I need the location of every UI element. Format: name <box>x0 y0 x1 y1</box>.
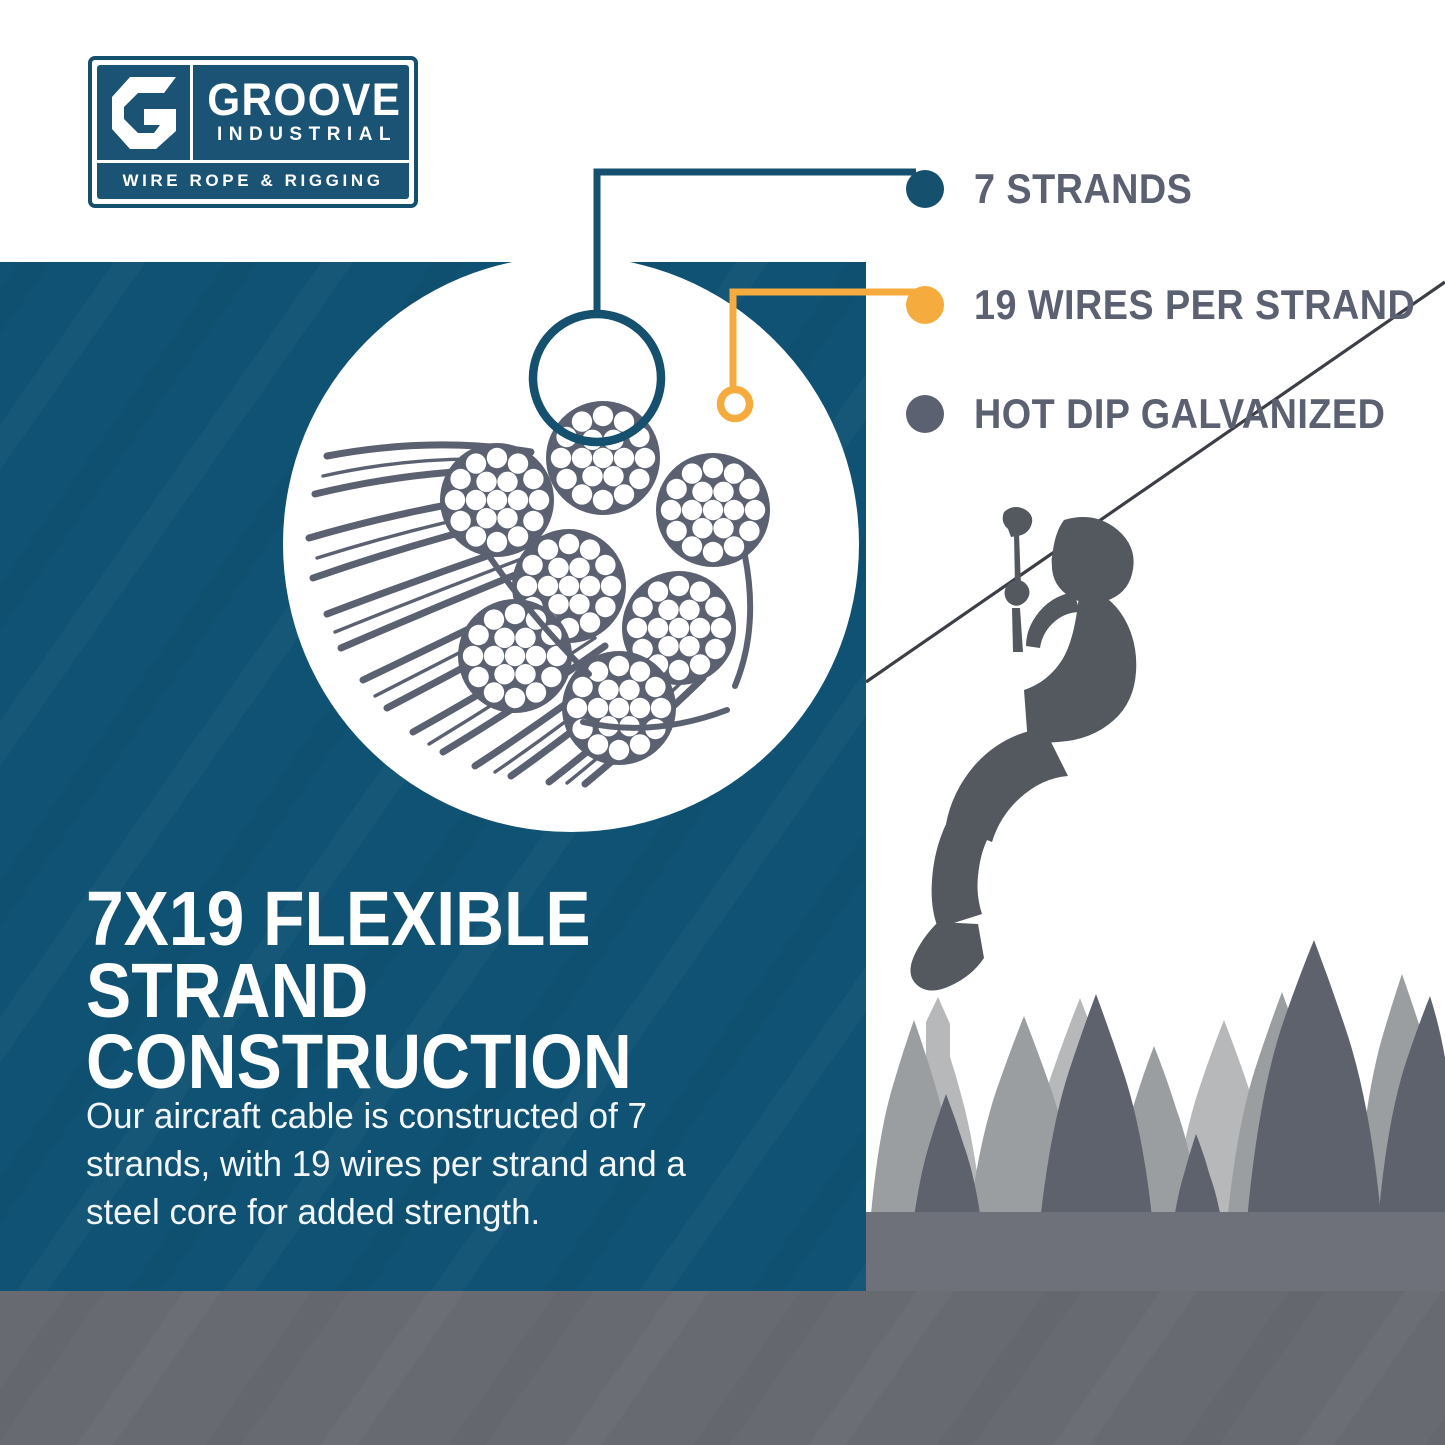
wire-ring-marker-icon <box>713 382 757 426</box>
cable-cross-section-circle <box>283 256 859 832</box>
callout-wires-per-strand[interactable]: 19 WIRES PER STRAND <box>906 281 1445 329</box>
callout-galvanized[interactable]: HOT DIP GALVANIZED <box>906 390 1431 438</box>
logo-inner-plate: GROOVE INDUSTRIAL WIRE ROPE & RIGGING <box>97 65 409 199</box>
logo-brand-name: GROOVE <box>207 79 401 120</box>
headline-line-1: 7X19 FLEXIBLE <box>86 884 755 956</box>
footer-diagonal-texture <box>0 1291 1445 1445</box>
logo-brand-subname: INDUSTRIAL <box>211 124 397 146</box>
ground-haze <box>866 1212 1445 1291</box>
groove-g-hexagon-icon <box>97 65 193 160</box>
headline-line-2: STRAND CONSTRUCTION <box>86 956 755 1099</box>
callout-label-strands: 7 STRANDS <box>974 165 1192 213</box>
logo-top-row: GROOVE INDUSTRIAL <box>97 65 409 163</box>
brand-logo: GROOVE INDUSTRIAL WIRE ROPE & RIGGING <box>88 56 418 208</box>
body-description: Our aircraft cable is constructed of 7 s… <box>86 1092 726 1236</box>
footer-band <box>0 1291 1445 1445</box>
zipline-cable <box>866 282 1445 682</box>
logo-tagline-row: WIRE ROPE & RIGGING <box>97 163 409 199</box>
callout-dot-strands <box>906 170 944 208</box>
callout-dot-galvanized <box>906 395 944 433</box>
logo-tagline: WIRE ROPE & RIGGING <box>122 171 383 191</box>
logo-wordmark: GROOVE INDUSTRIAL <box>193 79 409 145</box>
rider-silhouette <box>910 507 1136 991</box>
magnifier-ring-icon <box>527 308 667 448</box>
callout-strands[interactable]: 7 STRANDS <box>906 165 1217 213</box>
callout-label-galvanized: HOT DIP GALVANIZED <box>974 390 1385 438</box>
callout-label-wires: 19 WIRES PER STRAND <box>974 281 1415 329</box>
infographic-page: GROOVE INDUSTRIAL WIRE ROPE & RIGGING <box>0 0 1445 1445</box>
callout-dot-wires <box>906 286 944 324</box>
page-title: 7X19 FLEXIBLE STRAND CONSTRUCTION <box>86 884 755 1099</box>
